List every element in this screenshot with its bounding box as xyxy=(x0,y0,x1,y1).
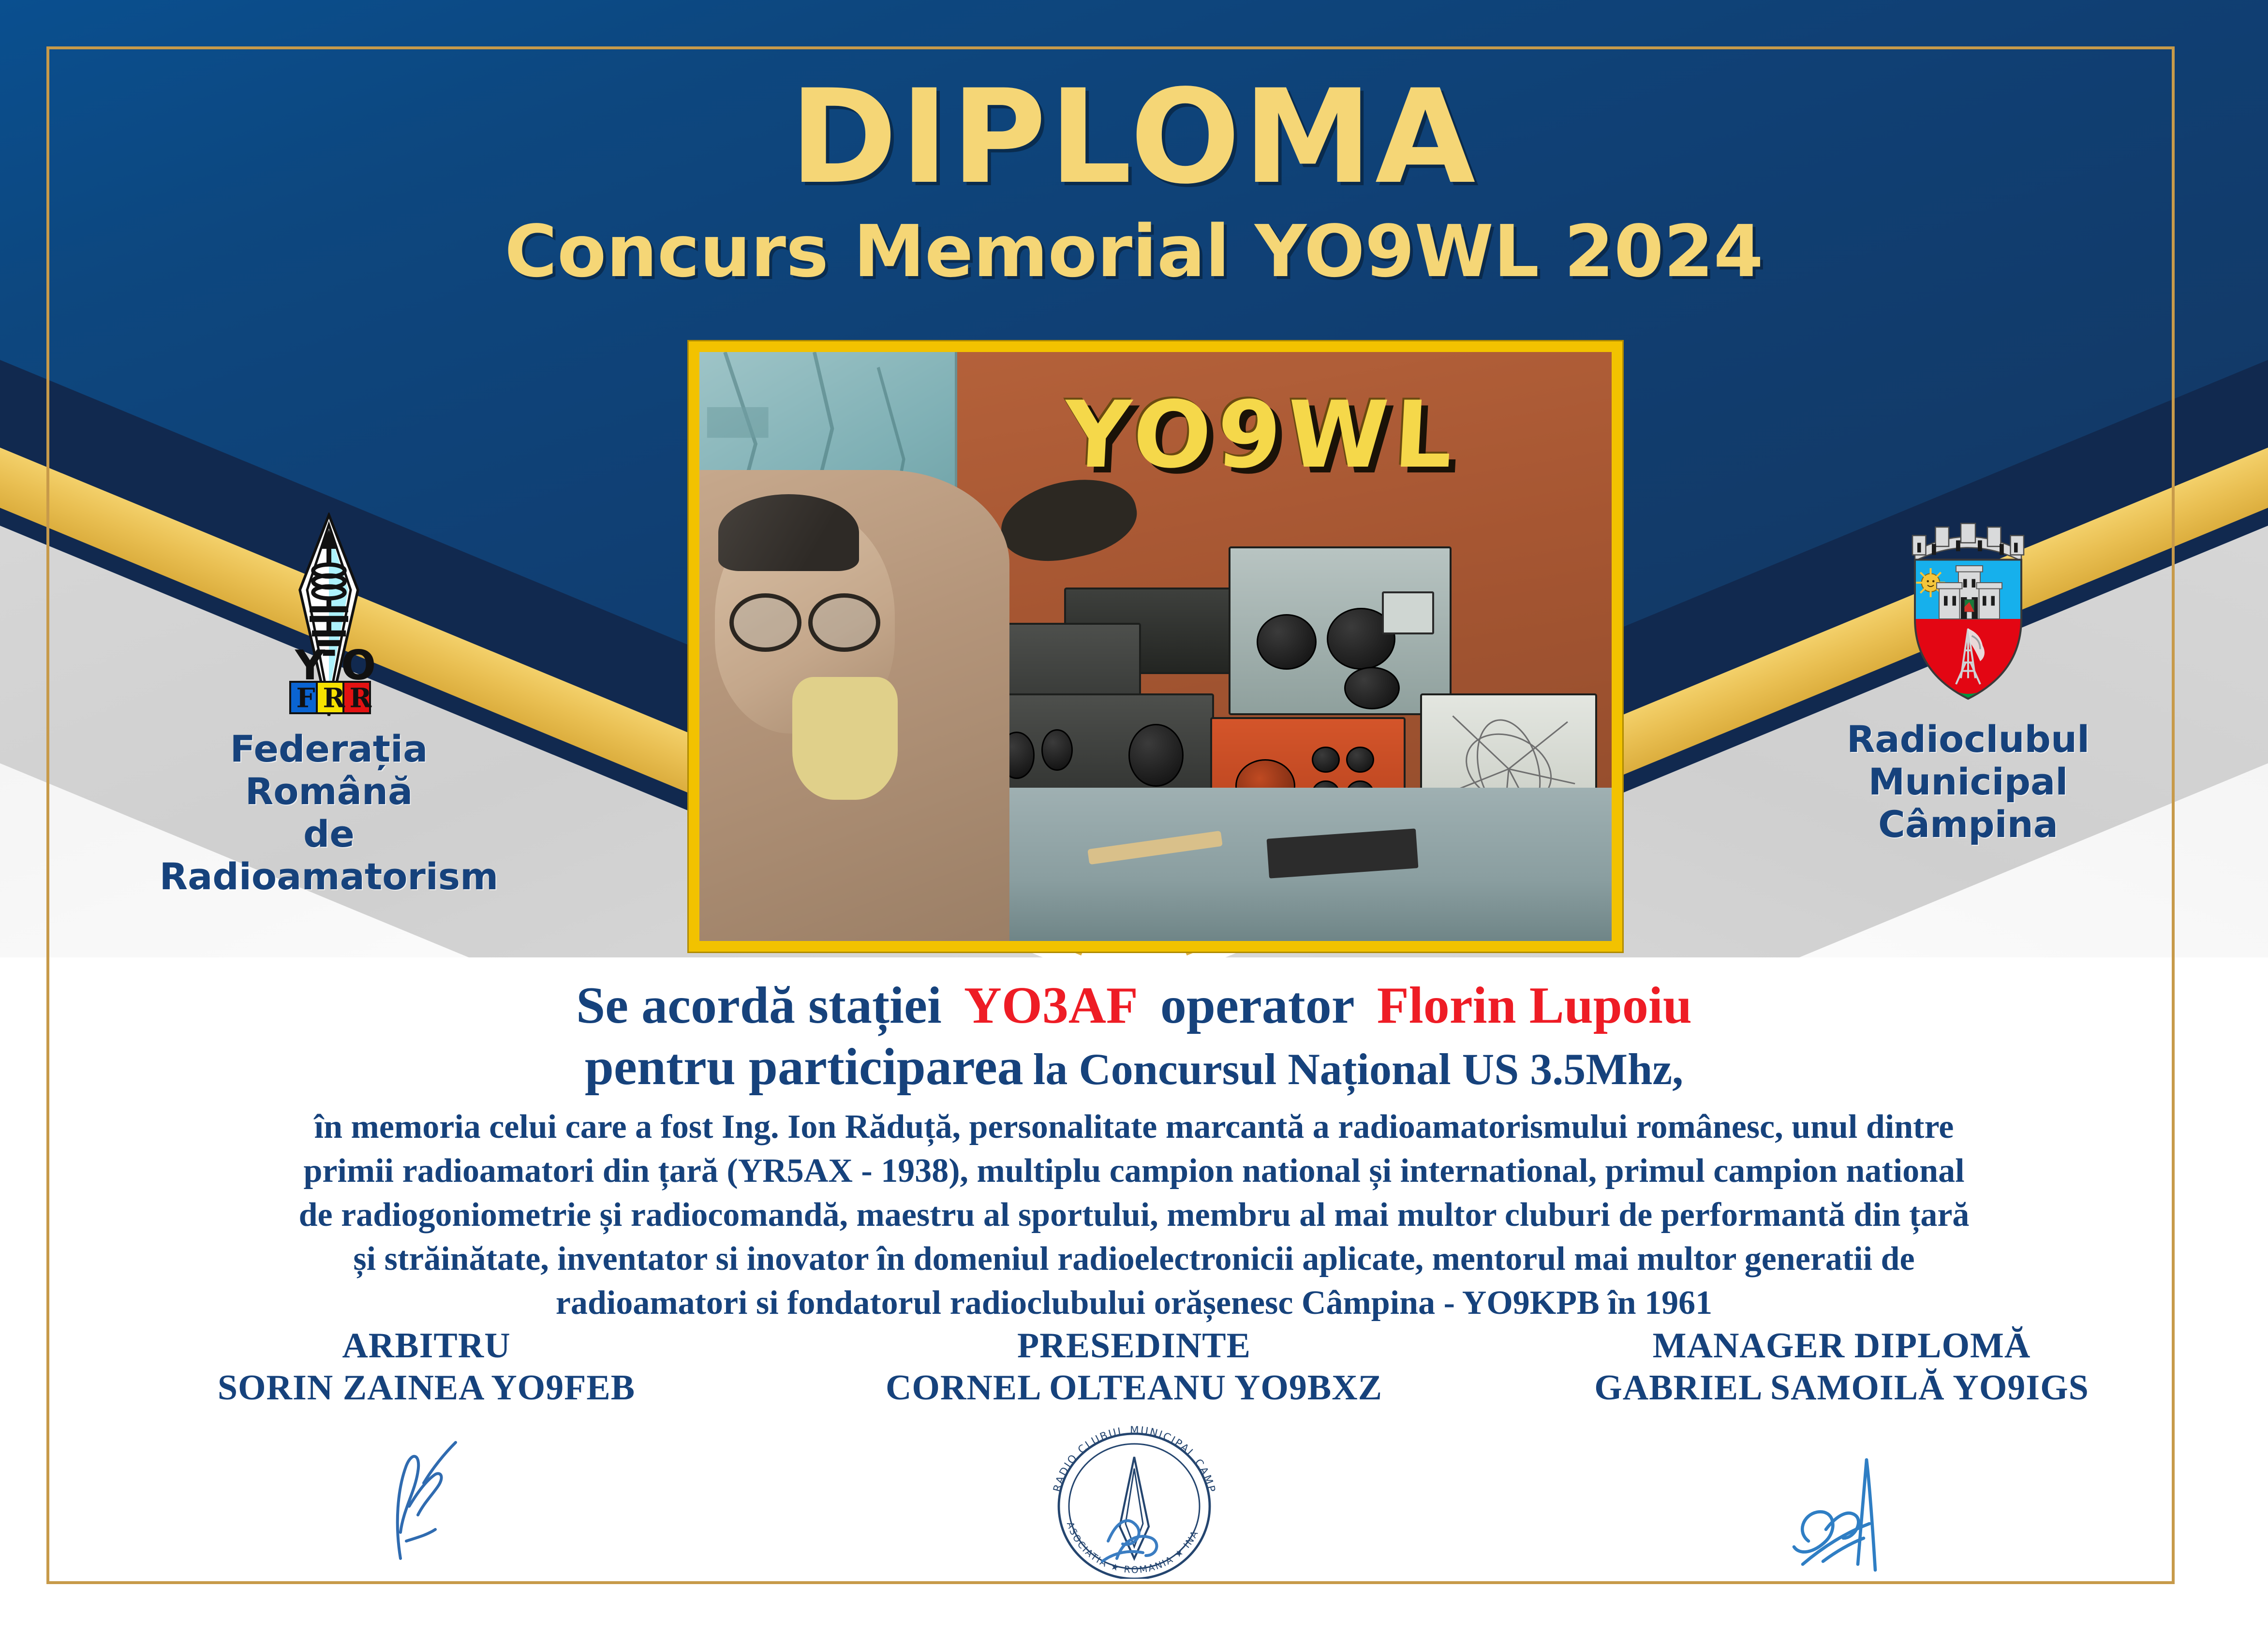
federation-name-line2: de Radioamatorism xyxy=(145,813,513,898)
signature-name: SORIN ZAINEA YO9FEB xyxy=(88,1367,765,1409)
diploma-certificate: DIPLOMA Concurs Memorial YO9WL 2024 YO9W… xyxy=(0,0,2268,1631)
official-round-stamp-icon: RADIO CLUBUL MUNICIPAL CAMP ASOCIATIA ★ … xyxy=(1033,1419,1236,1579)
federation-name-line1: Federația Română xyxy=(145,728,513,813)
memoriam-line: în memoria celui care a fost Ing. Ion Ră… xyxy=(73,1105,2195,1149)
memoriam-paragraph: în memoria celui care a fost Ing. Ion Ră… xyxy=(73,1105,2195,1325)
station-callsign: YO3AF xyxy=(964,977,1138,1034)
page-subtitle: Concurs Memorial YO9WL 2024 xyxy=(0,216,2268,287)
signature-mark-area: RADIO CLUBUL MUNICIPAL CAMP ASOCIATIA ★ … xyxy=(796,1419,1473,1564)
photo-operator xyxy=(699,470,1009,941)
photo-operator-hair xyxy=(718,494,859,571)
memoriam-line: primii radioamatori din țară (YR5AX - 19… xyxy=(73,1149,2195,1193)
memoriam-line: și străinătate, inventator si inovator î… xyxy=(73,1237,2195,1281)
station-photo: YO9WL xyxy=(689,341,1622,952)
award-line-2: pentru participareala Concursul Național… xyxy=(0,1038,2268,1097)
signature-name: GABRIEL SAMOILĂ YO9IGS xyxy=(1503,1367,2180,1409)
signature-block-arbitru: ARBITRU SORIN ZAINEA YO9FEB xyxy=(88,1325,765,1564)
operator-name: Florin Lupoiu xyxy=(1377,977,1692,1034)
signature-mark-area xyxy=(88,1419,765,1564)
memoriam-line: de radiogoniometrie și radiocomandă, mae… xyxy=(73,1193,2195,1237)
signature-block-manager: MANAGER DIPLOMĂ GABRIEL SAMOILĂ YO9IGS xyxy=(1503,1325,2180,1564)
memoriam-line: radioamatori si fondatorul radioclubului… xyxy=(73,1281,2195,1325)
photo-operator-glasses xyxy=(729,593,880,643)
campina-coat-of-arms-icon xyxy=(1896,503,2041,711)
signature-name: CORNEL OLTEANU YO9BXZ xyxy=(796,1367,1473,1409)
photo-operator-collar xyxy=(792,677,898,799)
handwritten-signature-icon xyxy=(1731,1419,1953,1579)
award-participation-label: pentru participarea xyxy=(585,1038,1023,1096)
page-title: DIPLOMA xyxy=(0,73,2268,202)
radioclub-name-line2: Municipal Câmpina xyxy=(1784,761,2152,846)
photo-callsign-sign: YO9WL xyxy=(1062,382,1462,488)
photo-pencil xyxy=(1088,831,1223,865)
handwritten-signature-icon xyxy=(325,1419,528,1564)
radioclub-name-line1: Radioclubul xyxy=(1784,718,2152,761)
award-statement: Se acordă stațieiYO3AFoperatorFlorin Lup… xyxy=(0,977,2268,1097)
signature-row: ARBITRU SORIN ZAINEA YO9FEB PRESEDINTE C… xyxy=(73,1325,2195,1564)
signature-role: ARBITRU xyxy=(88,1325,765,1367)
signature-mark-area xyxy=(1503,1419,2180,1564)
signature-role: PRESEDINTE xyxy=(796,1325,1473,1367)
title-block: DIPLOMA Concurs Memorial YO9WL 2024 xyxy=(0,73,2268,287)
svg-text:F: F xyxy=(296,682,315,714)
svg-text:R: R xyxy=(323,682,346,714)
photo-qsl-card xyxy=(1266,829,1418,879)
award-line-1: Se acordă stațieiYO3AFoperatorFlorin Lup… xyxy=(0,977,2268,1035)
frr-diamond-antenna-logo-icon: Y O F R R xyxy=(268,513,389,720)
signature-block-presedinte: PRESEDINTE CORNEL OLTEANU YO9BXZ RADIO C… xyxy=(796,1325,1473,1564)
award-prefix: Se acordă stației xyxy=(576,977,942,1034)
signature-role: MANAGER DIPLOMĂ xyxy=(1503,1325,2180,1367)
photo-transmitter xyxy=(1229,546,1452,715)
radioclub-logo-block: Radioclubul Municipal Câmpina xyxy=(1784,503,2152,846)
award-operator-label: operator xyxy=(1160,977,1355,1034)
svg-text:ASOCIATIA ★ ROMANIA ★ INA: ASOCIATIA ★ ROMANIA ★ INA xyxy=(1064,1520,1201,1575)
federation-logo-block: Y O F R R Federația Română de Radioamato… xyxy=(145,513,513,898)
svg-text:R: R xyxy=(350,682,372,714)
award-contest-name: la Concursul Național US 3.5Mhz, xyxy=(1033,1044,1683,1094)
